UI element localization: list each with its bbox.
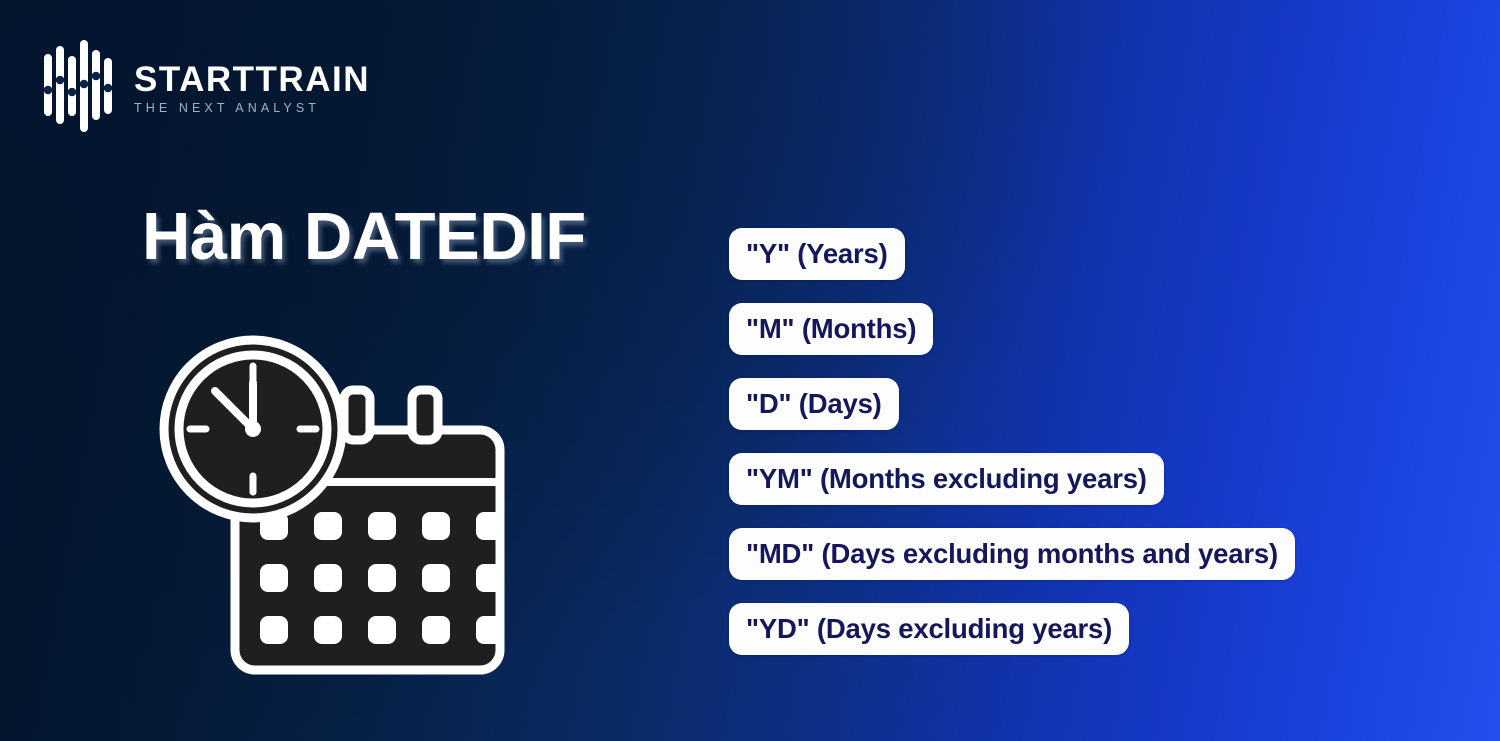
page-title: Hàm DATEDIF [142, 198, 586, 276]
datedif-unit-list: "Y" (Years) "M" (Months) "D" (Days) "YM"… [729, 228, 1295, 655]
brand-name: STARTTRAIN [134, 62, 370, 97]
list-item[interactable]: "MD" (Days excluding months and years) [729, 528, 1295, 580]
brand-wordmark: STARTTRAIN THE NEXT ANALYST [134, 58, 370, 115]
list-item[interactable]: "D" (Days) [729, 378, 899, 430]
list-item[interactable]: "M" (Months) [729, 303, 933, 355]
list-item[interactable]: "YM" (Months excluding years) [729, 453, 1164, 505]
clock-calendar-icon [150, 330, 580, 685]
slide-canvas: STARTTRAIN THE NEXT ANALYST Hàm DATEDIF [0, 0, 1500, 741]
audio-bars-icon [42, 40, 120, 132]
list-item[interactable]: "Y" (Years) [729, 228, 905, 280]
brand-logo: STARTTRAIN THE NEXT ANALYST [42, 40, 370, 132]
brand-tagline: THE NEXT ANALYST [134, 102, 370, 115]
list-item[interactable]: "YD" (Days excluding years) [729, 603, 1129, 655]
